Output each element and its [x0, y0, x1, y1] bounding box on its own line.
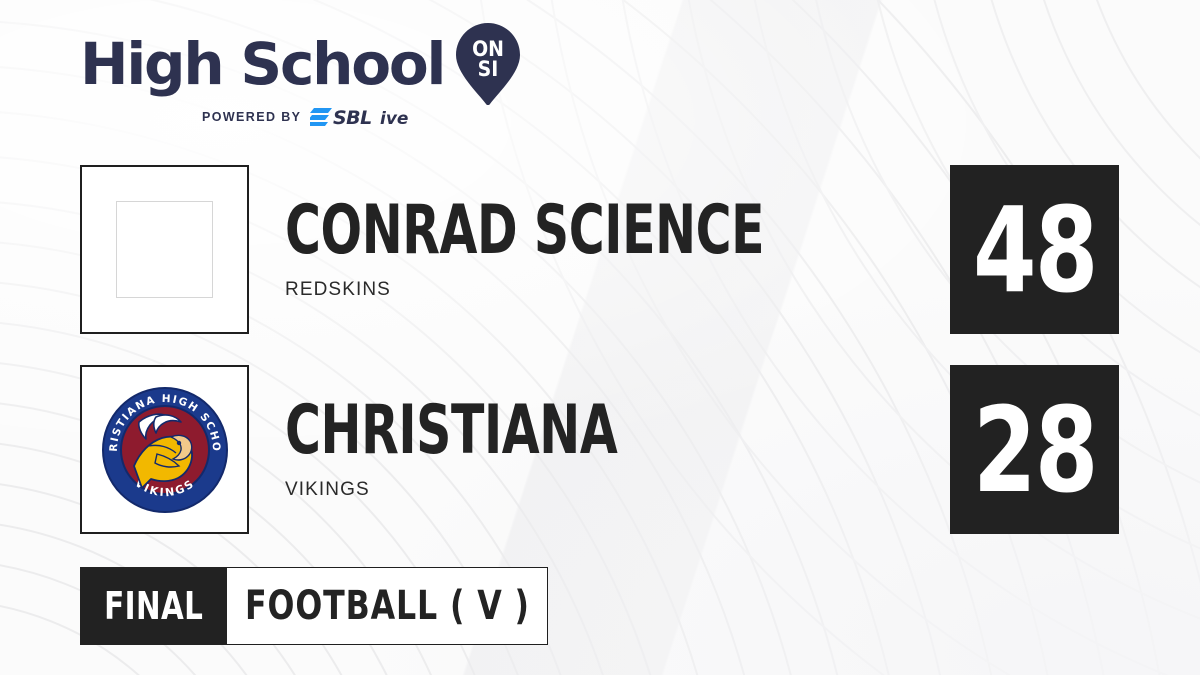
team-text-block: CHRISTIANA VIKINGS: [285, 365, 700, 534]
team-score: 48: [973, 191, 1097, 309]
team-logo-box: CHRISTIANA HIGH SCHOOL VIKINGS: [80, 365, 249, 534]
team-score: 28: [973, 391, 1097, 509]
status-badge-label: FINAL: [104, 584, 203, 628]
on-si-pin-icon: ON SI: [456, 23, 520, 105]
brand-wordmark-row: High School ON SI: [80, 28, 510, 100]
christiana-vikings-logo-icon: CHRISTIANA HIGH SCHOOL VIKINGS: [99, 384, 231, 516]
brand-wordmark: High School: [80, 35, 444, 93]
team-logo-placeholder-icon: [116, 201, 213, 298]
game-status-bar: FINAL FOOTBALL ( V ): [80, 567, 548, 645]
status-badge: FINAL: [80, 567, 227, 645]
team-score-box: 48: [950, 165, 1119, 334]
team-row: CONRAD SCIENCE REDSKINS 48: [80, 165, 1120, 334]
team-mascot: REDSKINS: [285, 279, 884, 301]
powered-by-row: POWERED BY SBL ive: [202, 106, 510, 128]
team-logo-box: [80, 165, 249, 334]
team-name: CHRISTIANA: [285, 398, 617, 463]
brand-logo[interactable]: High School ON SI POWERED BY: [80, 28, 510, 138]
team-score-box: 28: [950, 365, 1119, 534]
team-row: CHRISTIANA HIGH SCHOOL VIKINGS: [80, 365, 1120, 534]
powered-by-label: POWERED BY: [202, 110, 301, 124]
scorecard-graphic: High School ON SI POWERED BY: [0, 0, 1200, 675]
team-name: CONRAD SCIENCE: [285, 198, 764, 263]
team-mascot: VIKINGS: [285, 479, 700, 501]
sblive-wordmark-text: SBL: [333, 107, 372, 128]
team-text-block: CONRAD SCIENCE REDSKINS: [285, 165, 884, 334]
pin-line-two-text: SI: [478, 57, 499, 81]
sblive-logo-icon: SBL ive: [310, 106, 425, 128]
sport-label-box: FOOTBALL ( V ): [227, 567, 548, 645]
sport-label: FOOTBALL ( V ): [245, 583, 530, 629]
sblive-wordmark-suffix-text: ive: [380, 109, 408, 128]
